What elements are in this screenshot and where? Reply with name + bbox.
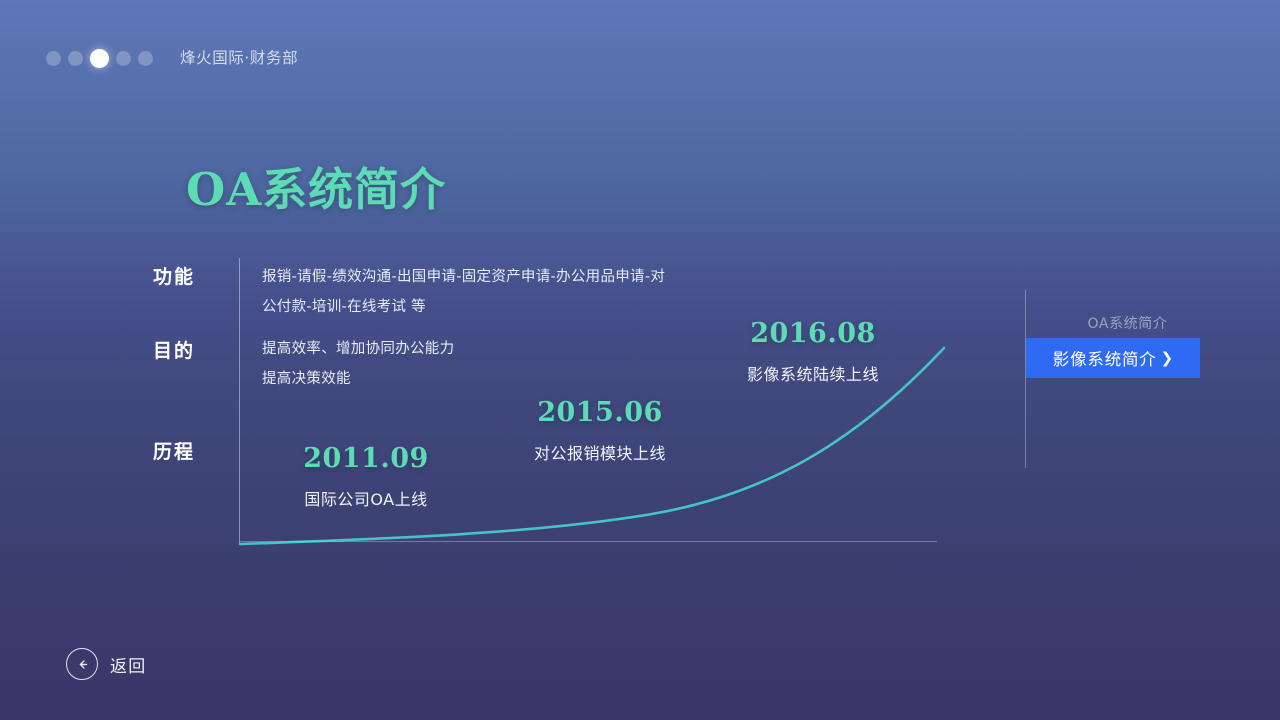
chevron-right-icon: ❯ bbox=[1161, 351, 1174, 366]
section-nav-panel: OA系统简介 影像系统简介 ❯ bbox=[1025, 290, 1280, 468]
back-button-label: 返回 bbox=[110, 652, 146, 677]
row-label-history: 历程 bbox=[115, 437, 195, 464]
milestone-desc: 国际公司OA上线 bbox=[268, 486, 464, 510]
milestone-2011: 2011.09 国际公司OA上线 bbox=[268, 443, 464, 510]
nav-item-oa-intro[interactable]: OA系统简介 bbox=[1040, 313, 1215, 333]
milestone-year: 2011.09 bbox=[268, 443, 464, 474]
row-label-purpose: 目的 bbox=[115, 336, 195, 363]
nav-item-label: 影像系统简介 bbox=[1053, 346, 1157, 370]
milestone-year: 2016.08 bbox=[715, 318, 911, 349]
back-button[interactable]: 返回 bbox=[66, 648, 146, 680]
milestone-2015: 2015.06 对公报销模块上线 bbox=[502, 397, 698, 464]
nav-item-imaging-intro[interactable]: 影像系统简介 ❯ bbox=[1026, 338, 1200, 378]
arrow-left-icon bbox=[66, 648, 98, 680]
milestone-desc: 影像系统陆续上线 bbox=[715, 361, 911, 385]
slide-root: 烽火国际·财务部 OA系统简介 功能 报销-请假-绩效沟通-出国申请-固定资产申… bbox=[0, 0, 1280, 720]
milestone-year: 2015.06 bbox=[502, 397, 698, 428]
chart-baseline-axis bbox=[240, 541, 937, 542]
milestone-2016: 2016.08 影像系统陆续上线 bbox=[715, 318, 911, 385]
row-label-function: 功能 bbox=[115, 262, 195, 289]
nav-panel-divider bbox=[1025, 290, 1026, 468]
milestone-desc: 对公报销模块上线 bbox=[502, 440, 698, 464]
row-text-function: 报销-请假-绩效沟通-出国申请-固定资产申请-办公用品申请-对公付款-培训-在线… bbox=[262, 262, 672, 322]
